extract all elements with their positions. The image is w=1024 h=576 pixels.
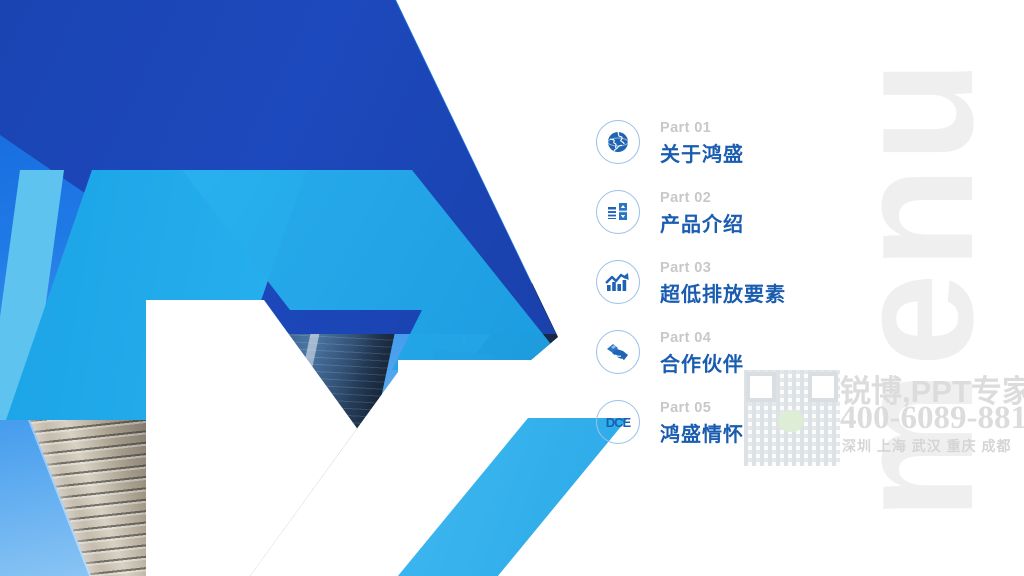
menu-item-part-01[interactable]: Part 01 关于鸿盛 (596, 114, 896, 184)
growth-chart-icon (596, 260, 640, 304)
dce-logo-icon: DCE (596, 400, 640, 444)
product-box-icon (596, 190, 640, 234)
dce-logo-text: DCE (606, 415, 630, 430)
menu-item-part-05[interactable]: DCE Part 05 鸿盛情怀 (596, 394, 896, 464)
menu-item-part-label: Part 03 (660, 260, 711, 276)
menu-item-part-02[interactable]: Part 02 产品介绍 (596, 184, 896, 254)
globe-icon (596, 120, 640, 164)
menu-item-title: 合作伙伴 (660, 348, 744, 377)
agenda-menu-list: Part 01 关于鸿盛 Part 02 产品介绍 (596, 114, 896, 464)
menu-item-part-04[interactable]: Part 04 合作伙伴 (596, 324, 896, 394)
menu-item-part-03[interactable]: Part 03 超低排放要素 (596, 254, 896, 324)
menu-item-title: 关于鸿盛 (660, 138, 744, 167)
menu-item-title: 鸿盛情怀 (660, 418, 744, 447)
menu-item-title: 超低排放要素 (660, 278, 786, 307)
menu-item-part-label: Part 02 (660, 190, 711, 206)
menu-item-part-label: Part 01 (660, 120, 711, 136)
handshake-icon (596, 330, 640, 374)
slide-canvas: menu Part 01 关于鸿盛 (0, 0, 1024, 576)
cyan-bar-bottom (388, 418, 628, 576)
menu-item-part-label: Part 05 (660, 400, 711, 416)
menu-item-part-label: Part 04 (660, 330, 711, 346)
menu-item-title: 产品介绍 (660, 208, 744, 237)
